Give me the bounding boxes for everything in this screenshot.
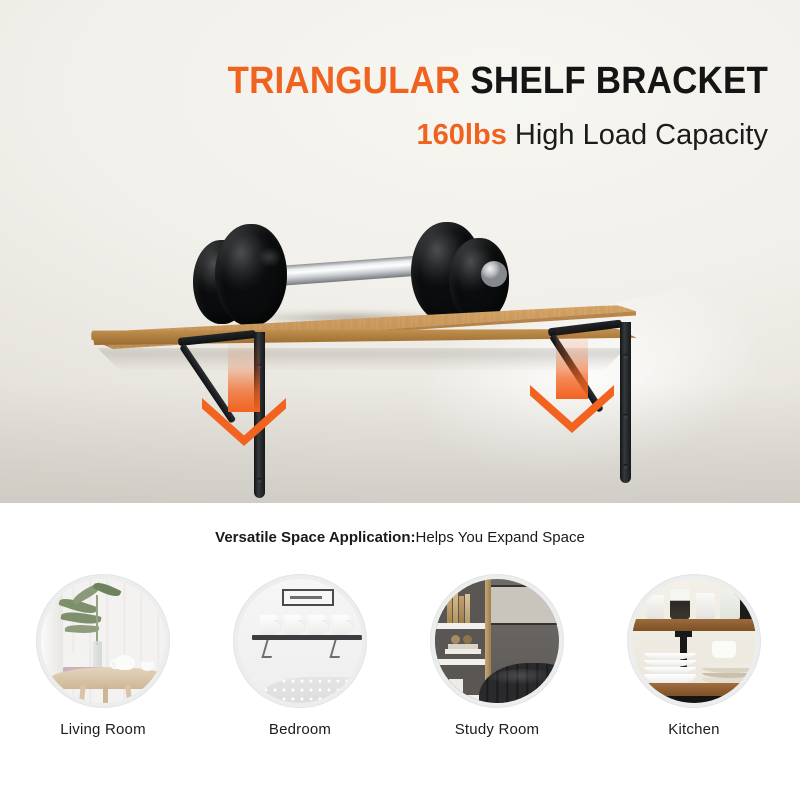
application-card-study-room: Study Room [407, 575, 587, 738]
round-wood-table [49, 667, 169, 689]
storage-box [449, 679, 463, 695]
application-card-label: Living Room [13, 721, 193, 738]
book-icon [465, 594, 470, 623]
thumbnail-bedroom [234, 575, 366, 707]
title-rest: SHELF BRACKET [470, 60, 768, 102]
headline: TRIANGULAR SHELF BRACKET [0, 62, 800, 100]
scene-bedroom [238, 579, 362, 703]
dumbbell-collar [481, 261, 507, 287]
jar-icon [720, 591, 740, 619]
table-leg [103, 685, 108, 707]
application-card-list: Living Room [0, 575, 800, 795]
mug-icon [260, 615, 277, 635]
thumbnail-study-room [431, 575, 563, 707]
jar-icon [670, 589, 690, 619]
book-icon [459, 596, 464, 623]
bookcase-shelf [435, 623, 487, 629]
bracket-left-screw-hole-3 [257, 478, 262, 483]
plate-stack [702, 657, 758, 685]
application-card-label: Kitchen [604, 721, 784, 738]
decor-ball [463, 635, 472, 644]
wall-shadow-gradient [0, 383, 800, 503]
book-stack-lower [445, 649, 481, 654]
application-card-label: Bedroom [210, 721, 390, 738]
load-arrow-right [530, 325, 614, 435]
capacity-label: High Load Capacity [515, 119, 768, 151]
bowl-stack [644, 653, 696, 685]
bookcase-shelf [435, 659, 487, 665]
kitchen-counter-base [632, 696, 760, 707]
mug-icon [308, 615, 325, 635]
load-arrow-right-shaft [556, 325, 588, 399]
bracket-right-screw-hole-1 [623, 354, 628, 359]
book-icon [447, 595, 452, 623]
page-title: TRIANGULAR SHELF BRACKET [61, 62, 768, 100]
kitchen-upper-shelf [632, 619, 760, 631]
bracket-right-vertical-arm [620, 322, 631, 483]
kitchen-lower-shelf [632, 683, 760, 696]
cup-icon [712, 641, 736, 658]
application-card-label: Study Room [407, 721, 587, 738]
application-heading-regular: Helps You Expand Space [416, 529, 585, 546]
decor-ball [451, 635, 460, 644]
bowl-icon [644, 660, 696, 667]
application-card-kitchen: Kitchen [604, 575, 784, 738]
bracket-right-screw-hole-3 [623, 464, 628, 469]
book-icon [453, 593, 458, 623]
chair-highlight [487, 669, 563, 691]
plant-stem [96, 595, 98, 645]
bowl-icon [644, 653, 696, 660]
cup-icon [141, 662, 154, 671]
knit-blanket [262, 677, 366, 707]
load-arrow-left [202, 338, 286, 448]
wall-panel [487, 585, 563, 625]
dumbbell-highlight [253, 242, 287, 272]
capacity-value: 160lbs [417, 119, 507, 151]
jar-icon [696, 593, 715, 619]
application-card-bedroom: Bedroom [210, 575, 390, 738]
jar-icon [646, 595, 664, 619]
scene-living-room [41, 579, 165, 703]
scene-study-room [435, 579, 559, 703]
jar-group [640, 587, 760, 619]
load-arrow-left-shaft [228, 338, 260, 412]
thumbnail-kitchen [628, 575, 760, 707]
capacity-line: 160lbs High Load Capacity [0, 118, 768, 153]
teapot-icon [115, 655, 135, 670]
bowl-icon [644, 667, 696, 674]
hero-section: TRIANGULAR SHELF BRACKET 160lbs High Loa… [0, 0, 800, 503]
picture-frame [282, 589, 334, 606]
mug-icon [284, 615, 301, 635]
application-card-living-room: Living Room [13, 575, 193, 738]
subheadline: 160lbs High Load Capacity [0, 118, 800, 153]
application-heading-bold: Versatile Space Application: [215, 529, 415, 546]
title-highlight: TRIANGULAR [228, 60, 461, 102]
thumbnail-living-room [37, 575, 169, 707]
product-infographic: TRIANGULAR SHELF BRACKET 160lbs High Loa… [0, 0, 800, 800]
application-heading: Versatile Space Application:Helps You Ex… [0, 529, 800, 546]
scene-kitchen [632, 579, 756, 703]
application-section: Versatile Space Application:Helps You Ex… [0, 503, 800, 800]
mug-icon [332, 615, 349, 635]
bracket-right-screw-hole-2 [623, 414, 628, 419]
